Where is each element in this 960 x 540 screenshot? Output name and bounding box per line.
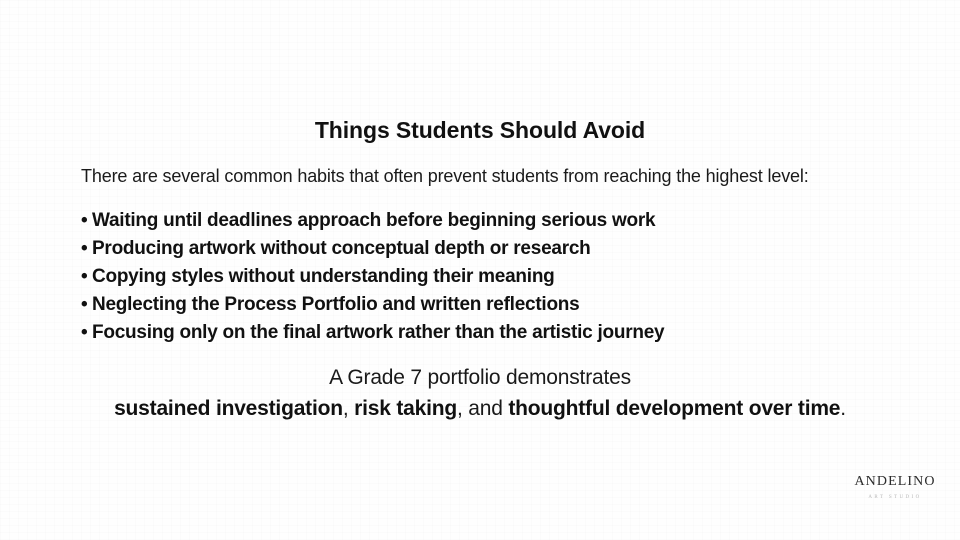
bullet-point-icon: • — [81, 207, 92, 235]
bullet-point-icon: • — [81, 235, 92, 263]
list-item-label: Waiting until deadlines approach before … — [92, 210, 655, 231]
closing-emphasis-thoughtful-development: thoughtful development over time — [508, 397, 840, 420]
logo-tagline: ART STUDIO — [843, 493, 947, 503]
list-item: •Copying styles without understanding th… — [81, 263, 911, 291]
bullet-point-icon: • — [81, 291, 92, 319]
closing-emphasis-sustained-investigation: sustained investigation — [114, 397, 343, 420]
list-item-label: Focusing only on the final artwork rathe… — [92, 322, 664, 343]
list-item-label: Copying styles without understanding the… — [92, 266, 555, 287]
lead-paragraph: There are several common habits that oft… — [81, 166, 881, 187]
logo-wordmark: ANDELINO — [843, 474, 947, 490]
page-title: Things Students Should Avoid — [0, 117, 960, 144]
avoid-bullet-list: •Waiting until deadlines approach before… — [81, 207, 911, 347]
slide-content: Things Students Should Avoid There are s… — [0, 0, 960, 540]
bullet-point-icon: • — [81, 319, 92, 347]
closing-separator-1: , — [343, 397, 354, 420]
brand-logo: ANDELINO ART STUDIO — [843, 474, 947, 503]
presentation-slide: Things Students Should Avoid There are s… — [0, 0, 960, 540]
list-item: •Neglecting the Process Portfolio and wr… — [81, 291, 911, 319]
closing-emphasis-risk-taking: risk taking — [354, 397, 457, 420]
list-item: •Producing artwork without conceptual de… — [81, 235, 911, 263]
closing-statement-line-1: A Grade 7 portfolio demonstrates — [0, 366, 960, 390]
closing-statement-line-2: sustained investigation, risk taking, an… — [0, 397, 960, 421]
list-item-label: Neglecting the Process Portfolio and wri… — [92, 294, 579, 315]
bullet-point-icon: • — [81, 263, 92, 291]
list-item: •Focusing only on the final artwork rath… — [81, 319, 911, 347]
closing-period: . — [840, 397, 846, 420]
closing-separator-2: , and — [457, 397, 508, 420]
list-item: •Waiting until deadlines approach before… — [81, 207, 911, 235]
list-item-label: Producing artwork without conceptual dep… — [92, 238, 591, 259]
